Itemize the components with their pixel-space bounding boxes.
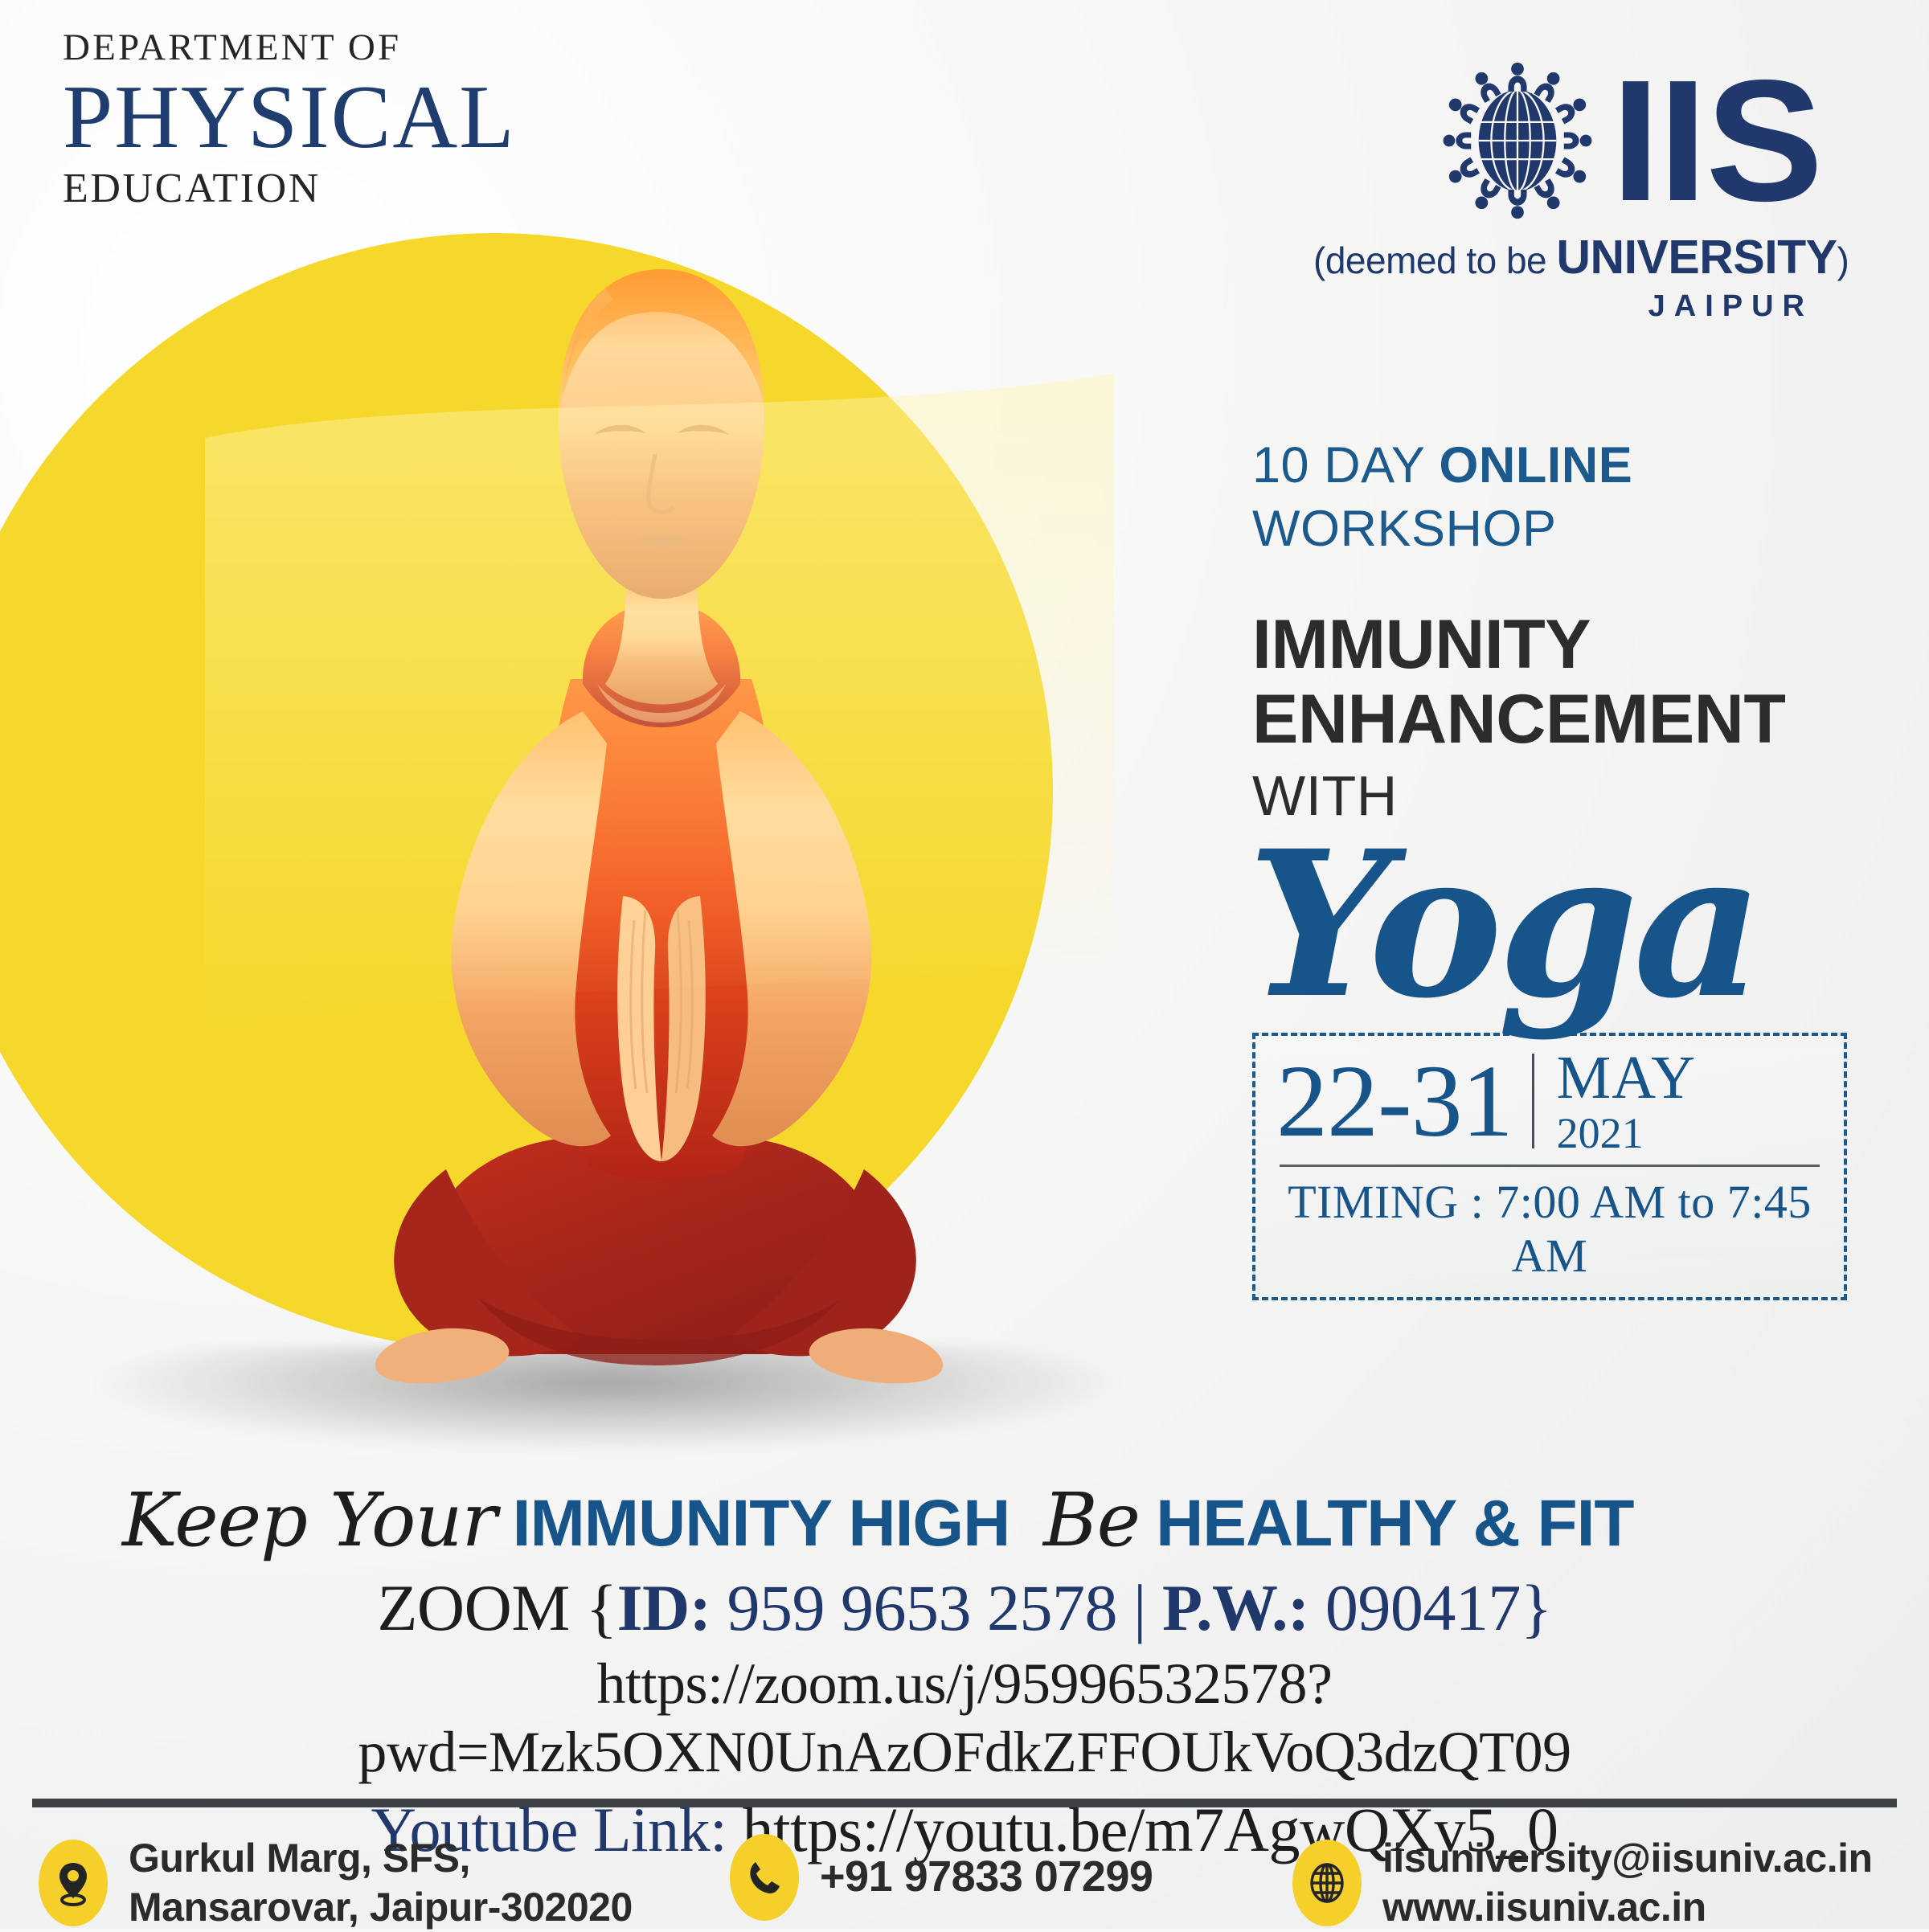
footer: Gurkul Marg, SFS, Mansarovar, Jaipur-302… bbox=[0, 1834, 1929, 1932]
logo-deemed-text: (deemed to be bbox=[1313, 239, 1556, 281]
zoom-password-value: 090417} bbox=[1309, 1571, 1552, 1644]
logo-university-line: (deemed to be UNIVERSITY) bbox=[1313, 230, 1820, 284]
kicker-online: ONLINE bbox=[1439, 437, 1632, 493]
department-heading: DEPARTMENT OF PHYSICAL EDUCATION bbox=[63, 29, 516, 210]
headline-yoga: Yoga bbox=[1247, 824, 1903, 1025]
poster-root: DEPARTMENT OF PHYSICAL EDUCATION bbox=[0, 0, 1929, 1929]
footer-phone-text: +91 97833 07299 bbox=[820, 1851, 1153, 1904]
address-line-2: Mansarovar, Jaipur-302020 bbox=[129, 1885, 633, 1930]
phone-icon bbox=[730, 1834, 799, 1921]
address-line-1: Gurkul Marg, SFS, bbox=[129, 1836, 470, 1881]
university-logo: IIS (deemed to be UNIVERSITY) JAIPUR bbox=[1313, 56, 1820, 324]
workshop-kicker: 10 DAY ONLINE WORKSHOP bbox=[1252, 440, 1903, 555]
date-time-box: 22-31 MAY 2021 TIMING : 7:00 AM to 7:45 … bbox=[1252, 1033, 1847, 1300]
zoom-pipe: | bbox=[1133, 1571, 1162, 1644]
logo-acronym: IIS bbox=[1612, 67, 1822, 215]
date-box-rule bbox=[1280, 1165, 1820, 1167]
tagline-right-script: Be bbox=[1043, 1477, 1140, 1563]
footer-web: iisuniversity@iisuniv.ac.in www.iisuniv.… bbox=[1292, 1834, 1890, 1932]
zoom-id-label: ID: bbox=[617, 1571, 711, 1644]
headline-line-2: ENHANCEMENT bbox=[1252, 682, 1903, 757]
page-title: IMMUNITY ENHANCEMENT bbox=[1252, 608, 1903, 757]
footer-email: iisuniversity@iisuniv.ac.in bbox=[1382, 1836, 1873, 1881]
department-line-2: PHYSICAL bbox=[63, 70, 516, 166]
footer-address: Gurkul Marg, SFS, Mansarovar, Jaipur-302… bbox=[39, 1834, 730, 1932]
date-year: 2021 bbox=[1557, 1111, 1696, 1155]
date-month: MAY bbox=[1557, 1047, 1696, 1108]
footer-divider bbox=[32, 1799, 1897, 1807]
tagline-left: Keep Your IMMUNITY HIGH bbox=[122, 1477, 1010, 1563]
footer-address-text: Gurkul Marg, SFS, Mansarovar, Jaipur-302… bbox=[129, 1834, 633, 1932]
woman-meditating-lotus-pose-illustration bbox=[205, 229, 1113, 1410]
footer-website: www.iisuniv.ac.in bbox=[1382, 1885, 1706, 1930]
kicker-workshop: WORKSHOP bbox=[1252, 504, 1903, 555]
footer-web-text: iisuniversity@iisuniv.ac.in www.iisuniv.… bbox=[1382, 1834, 1873, 1932]
headline-line-1: IMMUNITY bbox=[1252, 606, 1591, 683]
tagline-left-bold: IMMUNITY HIGH bbox=[513, 1486, 1010, 1562]
logo-university-text: UNIVERSITY bbox=[1556, 231, 1837, 284]
tagline-right-bold: HEALTHY & FIT bbox=[1156, 1486, 1633, 1562]
location-pin-icon bbox=[39, 1840, 108, 1926]
kicker-duration: 10 DAY bbox=[1252, 437, 1439, 493]
date-month-year: MAY 2021 bbox=[1534, 1047, 1696, 1155]
globe-icon bbox=[1292, 1840, 1362, 1926]
workshop-details: 10 DAY ONLINE WORKSHOP IMMUNITY ENHANCEM… bbox=[1252, 440, 1903, 1300]
zoom-meeting-link[interactable]: https://zoom.us/j/95996532578?pwd=Mzk5OX… bbox=[0, 1650, 1929, 1787]
footer-phone: +91 97833 07299 bbox=[730, 1834, 1292, 1921]
date-range: 22-31 bbox=[1276, 1050, 1532, 1152]
zoom-label: ZOOM { bbox=[377, 1571, 616, 1644]
department-line-3: EDUCATION bbox=[63, 168, 516, 210]
iis-globe-people-logo-icon bbox=[1433, 56, 1602, 225]
zoom-password-label: P.W.: bbox=[1162, 1571, 1309, 1644]
timing-text: TIMING : 7:00 AM to 7:45 AM bbox=[1276, 1175, 1823, 1283]
warm-light-glow bbox=[205, 374, 1113, 1033]
logo-top-row: IIS bbox=[1313, 56, 1820, 225]
zoom-id-value: 959 9653 2578 bbox=[711, 1571, 1134, 1644]
logo-city: JAIPUR bbox=[1313, 289, 1820, 324]
tagline-right: Be HEALTHY & FIT bbox=[1043, 1477, 1633, 1563]
zoom-credentials: ZOOM {ID: 959 9653 2578 | P.W.: 090417} bbox=[0, 1571, 1929, 1645]
tagline-left-script: Keep Your bbox=[122, 1477, 497, 1563]
join-links: ZOOM {ID: 959 9653 2578 | P.W.: 090417} … bbox=[0, 1571, 1929, 1867]
department-line-1: DEPARTMENT OF bbox=[63, 29, 516, 67]
logo-paren-close: ) bbox=[1837, 239, 1849, 281]
date-row: 22-31 MAY 2021 bbox=[1276, 1047, 1823, 1155]
